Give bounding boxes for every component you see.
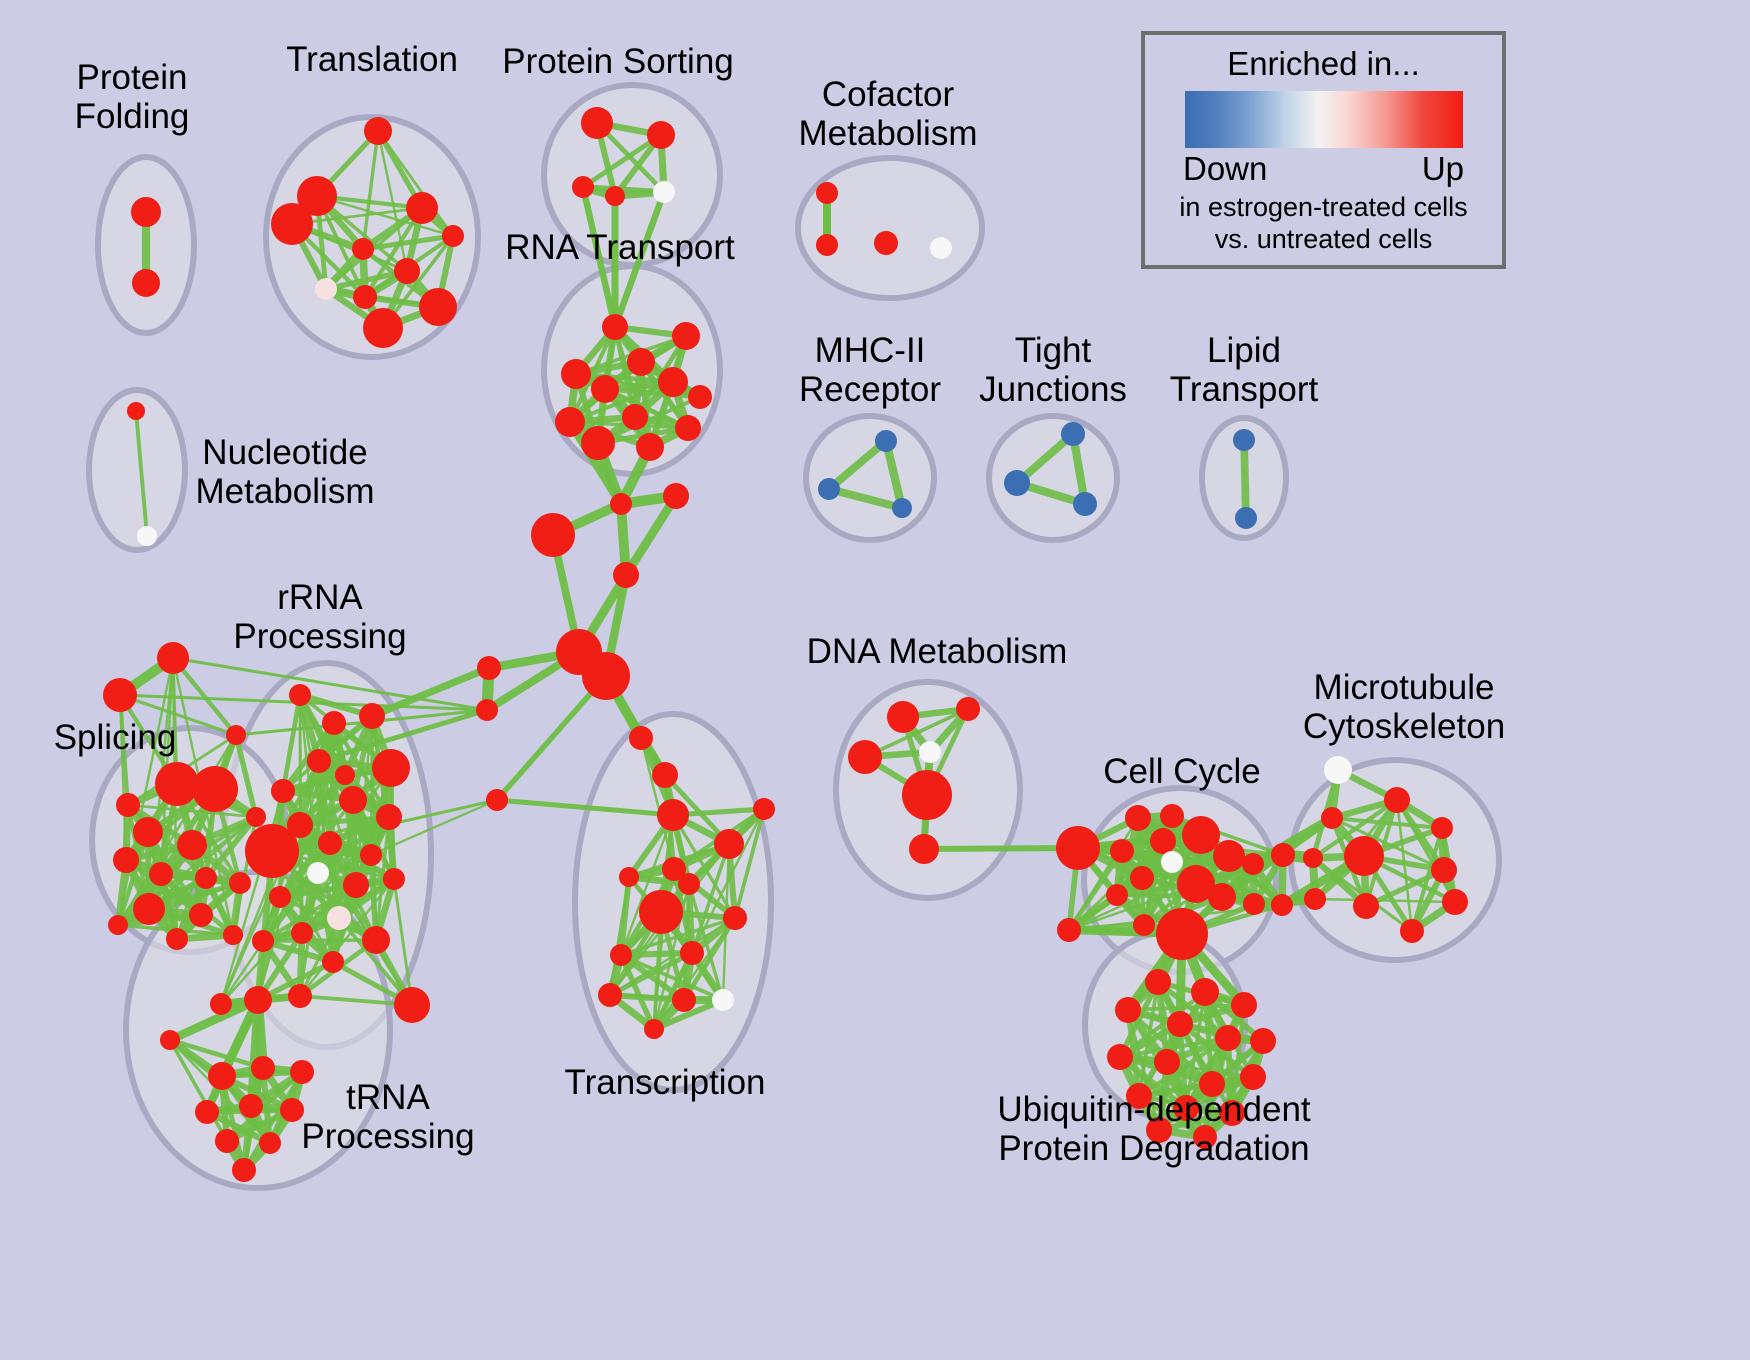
network-edge xyxy=(263,940,376,941)
network-node xyxy=(113,847,139,873)
network-node xyxy=(486,789,508,811)
network-node xyxy=(1303,848,1323,868)
network-node xyxy=(1167,1011,1193,1037)
network-node xyxy=(477,656,501,680)
network-node xyxy=(195,1100,219,1124)
network-node xyxy=(1400,919,1424,943)
network-node xyxy=(613,562,639,588)
network-node xyxy=(1182,816,1220,854)
network-node xyxy=(149,862,173,886)
network-node xyxy=(956,697,980,721)
network-node xyxy=(383,868,405,890)
network-node xyxy=(322,951,344,973)
network-node xyxy=(166,928,188,950)
network-node xyxy=(874,231,898,255)
network-node xyxy=(160,1030,180,1050)
network-node xyxy=(892,498,912,518)
network-node xyxy=(1344,836,1384,876)
network-node xyxy=(307,862,329,884)
network-node xyxy=(581,426,615,460)
network-node xyxy=(290,1060,314,1084)
network-node xyxy=(291,922,313,944)
network-node xyxy=(246,807,266,827)
network-node xyxy=(644,1019,664,1039)
network-edge xyxy=(626,496,676,575)
network-node xyxy=(572,176,594,198)
network-node xyxy=(672,322,700,350)
network-node xyxy=(1161,851,1183,873)
network-node xyxy=(376,804,402,830)
network-node xyxy=(103,678,137,712)
network-node xyxy=(131,197,161,227)
network-node xyxy=(364,117,392,145)
network-node xyxy=(127,402,145,420)
network-node xyxy=(133,817,163,847)
network-node xyxy=(652,762,678,788)
network-node xyxy=(919,741,941,763)
network-node xyxy=(335,765,355,785)
network-node xyxy=(712,989,734,1011)
network-node xyxy=(343,872,369,898)
network-node xyxy=(1125,805,1151,831)
network-node xyxy=(318,831,342,855)
network-node xyxy=(271,203,313,245)
network-node xyxy=(1384,787,1410,813)
network-node xyxy=(875,430,897,452)
network-node xyxy=(1146,1117,1172,1143)
network-node xyxy=(555,407,585,437)
network-node xyxy=(816,182,838,204)
network-edge xyxy=(924,848,1078,849)
network-node xyxy=(531,513,575,557)
network-node xyxy=(177,830,207,860)
network-node xyxy=(271,779,295,803)
network-node xyxy=(1353,893,1379,919)
network-node xyxy=(223,925,243,945)
network-node xyxy=(1004,470,1030,496)
network-node xyxy=(1110,839,1134,863)
network-node xyxy=(610,493,632,515)
network-node xyxy=(1431,857,1457,883)
network-node xyxy=(189,903,213,927)
network-node xyxy=(1304,888,1326,910)
network-node xyxy=(133,893,165,925)
network-node xyxy=(680,941,704,965)
network-node xyxy=(210,993,232,1015)
enrichment-network-figure: Protein FoldingTranslationProtein Sortin… xyxy=(0,0,1750,1360)
network-node xyxy=(289,684,311,706)
network-node xyxy=(1243,893,1265,915)
network-node xyxy=(1215,1025,1241,1051)
network-node xyxy=(339,786,367,814)
network-node xyxy=(1115,997,1141,1023)
network-node xyxy=(818,478,840,500)
network-node xyxy=(307,749,331,773)
network-node xyxy=(1231,992,1257,1018)
network-node xyxy=(362,926,390,954)
network-edge xyxy=(1244,440,1246,518)
network-node xyxy=(1106,884,1128,906)
network-node xyxy=(208,1062,236,1090)
network-node xyxy=(653,181,675,203)
network-node xyxy=(1233,429,1255,451)
network-node xyxy=(629,726,653,750)
network-node xyxy=(688,385,712,409)
network-node xyxy=(909,834,939,864)
network-node xyxy=(372,749,410,787)
network-node xyxy=(619,867,639,887)
legend-caption-line2: vs. untreated cells xyxy=(1145,224,1502,256)
network-node xyxy=(1073,492,1097,516)
network-node xyxy=(1321,807,1343,829)
network-node xyxy=(1213,840,1245,872)
legend-color-gradient xyxy=(1185,91,1463,148)
network-node xyxy=(195,867,217,889)
network-node xyxy=(322,711,346,735)
network-node xyxy=(137,526,157,546)
network-node xyxy=(753,798,775,820)
legend-high-label: Up xyxy=(1422,150,1464,188)
network-node xyxy=(598,983,622,1007)
network-node xyxy=(215,1129,239,1153)
network-node xyxy=(636,433,664,461)
network-node xyxy=(848,740,882,774)
network-node xyxy=(394,987,430,1023)
network-node xyxy=(1154,1049,1180,1075)
network-node xyxy=(352,238,374,260)
network-node xyxy=(647,121,675,149)
network-node xyxy=(229,872,251,894)
network-node xyxy=(887,701,919,733)
network-node xyxy=(419,288,457,326)
network-node xyxy=(1061,422,1085,446)
legend-box: Enriched in... Down Up in estrogen-treat… xyxy=(1141,31,1506,269)
network-node xyxy=(1235,507,1257,529)
network-node xyxy=(1242,853,1264,875)
network-node xyxy=(132,269,160,297)
network-node xyxy=(622,404,648,430)
network-node xyxy=(1107,1044,1133,1070)
network-node xyxy=(658,367,688,397)
network-node xyxy=(406,192,438,224)
network-node xyxy=(1130,866,1154,890)
network-node xyxy=(561,359,591,389)
network-node xyxy=(1057,918,1081,942)
network-node xyxy=(252,930,274,952)
network-node xyxy=(1208,883,1236,911)
network-node xyxy=(245,824,299,878)
network-node xyxy=(1199,1071,1225,1097)
network-node xyxy=(1160,804,1184,828)
network-node xyxy=(627,348,655,376)
network-node xyxy=(1431,817,1453,839)
network-node xyxy=(663,483,689,509)
network-node xyxy=(605,186,625,206)
network-node xyxy=(1271,843,1295,867)
network-node xyxy=(657,799,689,831)
network-node xyxy=(675,415,701,441)
network-node xyxy=(930,237,952,259)
network-node xyxy=(639,890,683,934)
network-node xyxy=(288,984,312,1008)
network-node xyxy=(1442,889,1468,915)
network-node xyxy=(1126,1083,1152,1109)
network-node xyxy=(251,1056,275,1080)
network-node xyxy=(244,986,272,1014)
network-node xyxy=(327,906,351,930)
network-node xyxy=(902,770,952,820)
network-node xyxy=(239,1094,263,1118)
network-node xyxy=(359,703,385,729)
network-node xyxy=(1240,1064,1266,1090)
network-node xyxy=(226,725,246,745)
network-node xyxy=(1191,978,1219,1006)
network-node xyxy=(591,375,619,403)
network-node xyxy=(363,308,403,348)
network-node xyxy=(714,829,744,859)
network-node xyxy=(259,1132,281,1154)
network-node xyxy=(192,766,238,812)
network-node xyxy=(280,1098,304,1122)
network-node xyxy=(1250,1028,1276,1054)
network-node xyxy=(1156,908,1208,960)
network-node xyxy=(1173,1095,1199,1121)
legend-low-label: Down xyxy=(1183,150,1267,188)
network-node xyxy=(1133,914,1155,936)
network-node xyxy=(1056,826,1100,870)
network-node xyxy=(394,258,420,284)
network-node xyxy=(1145,969,1171,995)
network-node xyxy=(581,107,613,139)
network-node xyxy=(232,1158,256,1182)
cluster-halo-mhc-ii-receptor xyxy=(806,416,934,540)
network-node xyxy=(678,873,700,895)
network-node xyxy=(1193,1125,1217,1149)
network-node xyxy=(1219,1100,1245,1126)
network-node xyxy=(353,285,377,309)
network-node xyxy=(602,314,628,340)
network-node xyxy=(476,699,498,721)
network-node xyxy=(1150,828,1176,854)
network-node xyxy=(816,234,838,256)
network-node xyxy=(1271,894,1293,916)
network-node xyxy=(442,225,464,247)
network-node xyxy=(269,886,291,908)
network-node xyxy=(155,762,199,806)
network-node xyxy=(157,642,189,674)
network-node xyxy=(1324,756,1352,784)
network-node xyxy=(108,915,128,935)
network-node xyxy=(672,988,696,1012)
network-node xyxy=(116,793,140,817)
network-node xyxy=(360,844,382,866)
legend-caption-line1: in estrogen-treated cells xyxy=(1145,192,1502,224)
network-node xyxy=(723,906,747,930)
network-node xyxy=(315,278,337,300)
legend-title: Enriched in... xyxy=(1145,45,1502,83)
network-node xyxy=(610,944,632,966)
network-node xyxy=(582,652,630,700)
